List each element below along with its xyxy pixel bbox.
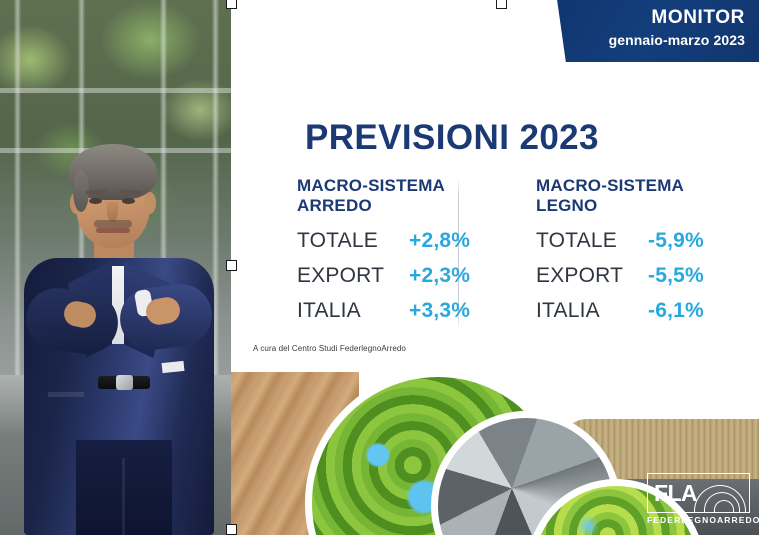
column-rows: TOTALE -5,9% EXPORT -5,5% ITALIA -6,1% — [536, 229, 745, 334]
table-row: ITALIA -6,1% — [536, 299, 745, 334]
column-legno: MACRO-SISTEMA LEGNO TOTALE -5,9% EXPORT … — [506, 176, 745, 334]
selection-handle-top[interactable] — [226, 0, 237, 9]
slide-canvas: MONITOR gennaio-marzo 2023 PREVISIONI 20… — [0, 0, 759, 535]
selection-handle-bottom[interactable] — [226, 524, 237, 535]
row-label: ITALIA — [536, 299, 648, 323]
mouth — [96, 228, 130, 233]
table-row: ITALIA +3,3% — [297, 299, 506, 334]
selection-handle-top-center[interactable] — [496, 0, 507, 9]
row-label: TOTALE — [297, 229, 409, 253]
logo-box: FLA — [647, 473, 750, 513]
hair — [69, 144, 157, 200]
moustache — [94, 220, 132, 228]
row-label: EXPORT — [536, 264, 648, 288]
header-subtitle: gennaio-marzo 2023 — [609, 32, 745, 48]
logo-mark-text: FLA — [648, 480, 697, 507]
column-arredo: MACRO-SISTEMA ARREDO TOTALE +2,8% EXPORT… — [297, 176, 506, 334]
page-title: PREVISIONI 2023 — [305, 118, 599, 158]
row-label: TOTALE — [536, 229, 648, 253]
row-label: ITALIA — [297, 299, 409, 323]
table-row: TOTALE +2,8% — [297, 229, 506, 264]
bottom-image-band: FLA FEDERLEGNOARREDO — [231, 367, 759, 535]
portrait-photo[interactable] — [0, 0, 231, 535]
row-value: +2,8% — [409, 229, 470, 253]
jacket-pocket — [48, 392, 84, 397]
header-banner: MONITOR gennaio-marzo 2023 — [469, 0, 759, 62]
forecast-columns: MACRO-SISTEMA ARREDO TOTALE +2,8% EXPORT… — [297, 176, 745, 334]
fla-logo: FLA FEDERLEGNOARREDO — [647, 473, 750, 525]
column-title: MACRO-SISTEMA LEGNO — [536, 176, 745, 215]
selection-handle-middle-right[interactable] — [226, 260, 237, 271]
row-label: EXPORT — [297, 264, 409, 288]
header-title: MONITOR — [609, 8, 745, 29]
nose — [107, 202, 118, 222]
infographic-panel: MONITOR gennaio-marzo 2023 PREVISIONI 20… — [231, 0, 759, 535]
person-figure — [24, 140, 214, 535]
column-rows: TOTALE +2,8% EXPORT +2,3% ITALIA +3,3% — [297, 229, 506, 334]
header-text-group: MONITOR gennaio-marzo 2023 — [609, 8, 745, 48]
belt-buckle — [116, 375, 133, 390]
trouser-seam — [122, 458, 125, 535]
row-value: -5,9% — [648, 229, 704, 253]
column-title: MACRO-SISTEMA ARREDO — [297, 176, 506, 215]
table-row: TOTALE -5,9% — [536, 229, 745, 264]
row-value: +3,3% — [409, 299, 470, 323]
credit-text: A cura del Centro Studi FederlegnoArredo — [253, 344, 406, 353]
eye-left — [89, 198, 102, 204]
ear-right — [144, 192, 156, 214]
window-band — [0, 88, 231, 93]
table-row: EXPORT -5,5% — [536, 264, 745, 299]
eye-right — [122, 198, 135, 204]
header-curve-decoration2 — [319, 30, 549, 120]
logo-arch-icon — [692, 476, 746, 512]
row-value: -6,1% — [648, 299, 704, 323]
table-row: EXPORT +2,3% — [297, 264, 506, 299]
row-value: +2,3% — [409, 264, 470, 288]
logo-company-name: FEDERLEGNOARREDO — [647, 515, 750, 525]
row-value: -5,5% — [648, 264, 704, 288]
